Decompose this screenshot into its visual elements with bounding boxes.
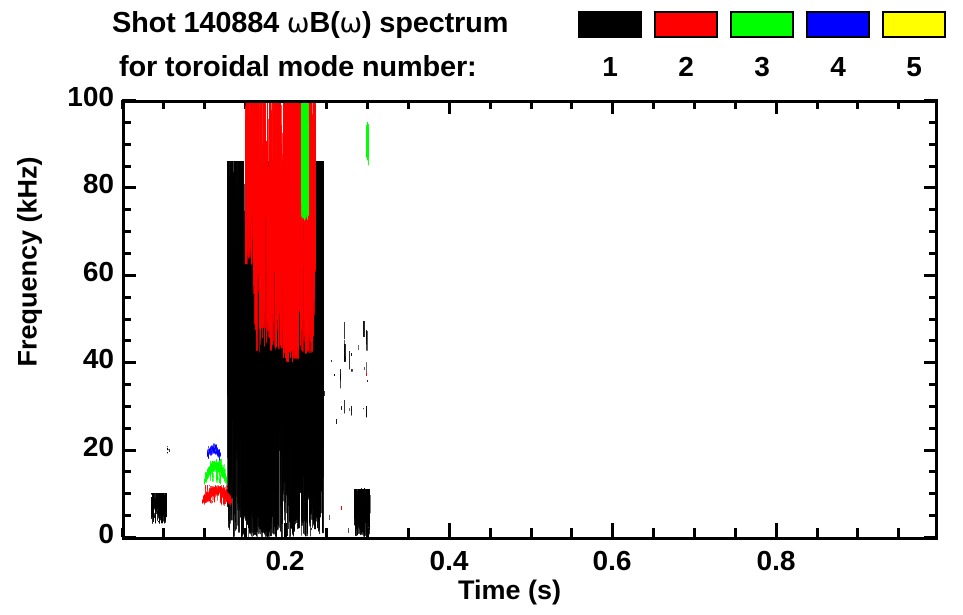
x-axis-title-text: Time (s) <box>458 575 561 605</box>
x-axis-title: Time (s) <box>0 575 963 606</box>
x-tick-top-minor-0.00 <box>121 100 124 109</box>
x-tick-label-0.4: 0.4 <box>394 545 504 577</box>
x-tick-label-0.6: 0.6 <box>557 545 667 577</box>
legend-label-mode-1: 1 <box>578 51 642 83</box>
omega-symbol-1: ω <box>287 8 309 39</box>
legend-entry-1: 1 <box>578 11 644 91</box>
y-tick-major-100 <box>122 99 136 102</box>
title-spectrum-text: ) spectrum <box>362 7 508 39</box>
legend-swatch-mode-2 <box>654 11 718 38</box>
y-tick-labels: 020406080100 <box>36 0 114 615</box>
spectrogram-data-area <box>125 103 935 537</box>
title-b-open: B( <box>309 7 339 39</box>
y-tick-label-20: 20 <box>44 431 114 463</box>
x-tick-minor-0.00 <box>121 528 124 537</box>
legend-swatch-mode-1 <box>578 11 642 38</box>
legend-entry-2: 2 <box>654 11 720 91</box>
figure-title-line-2: for toroidal mode number: <box>119 51 477 84</box>
legend-entry-3: 3 <box>730 11 796 91</box>
mode-number-legend: 12345 <box>578 11 958 93</box>
omega-symbol-2: ω <box>340 8 362 39</box>
legend-label-mode-4: 4 <box>806 51 870 83</box>
legend-swatch-mode-5 <box>882 11 946 38</box>
spectrogram-canvas <box>125 103 935 537</box>
figure-title-line-1: Shot 140884 ωB(ω) spectrum <box>112 7 508 40</box>
x-tick-label-0.2: 0.2 <box>230 545 340 577</box>
y-tick-label-100: 100 <box>44 81 114 113</box>
title-shot-text: Shot 140884 <box>112 7 287 39</box>
legend-entry-4: 4 <box>806 11 872 91</box>
legend-label-mode-5: 5 <box>882 51 946 83</box>
legend-swatch-mode-3 <box>730 11 794 38</box>
y-tick-label-80: 80 <box>44 168 114 200</box>
legend-label-mode-3: 3 <box>730 51 794 83</box>
y-tick-right-major-100 <box>924 99 938 102</box>
y-axis-title: Frequency (kHz) <box>13 152 44 372</box>
y-tick-label-60: 60 <box>44 256 114 288</box>
y-tick-label-0: 0 <box>44 518 114 550</box>
legend-swatch-mode-4 <box>806 11 870 38</box>
spectrogram-figure: Shot 140884 ωB(ω) spectrum for toroidal … <box>0 0 963 615</box>
y-tick-label-40: 40 <box>44 343 114 375</box>
x-tick-label-0.8: 0.8 <box>721 545 831 577</box>
legend-label-mode-2: 2 <box>654 51 718 83</box>
legend-entry-5: 5 <box>882 11 948 91</box>
axis-bottom-spine <box>122 537 938 540</box>
